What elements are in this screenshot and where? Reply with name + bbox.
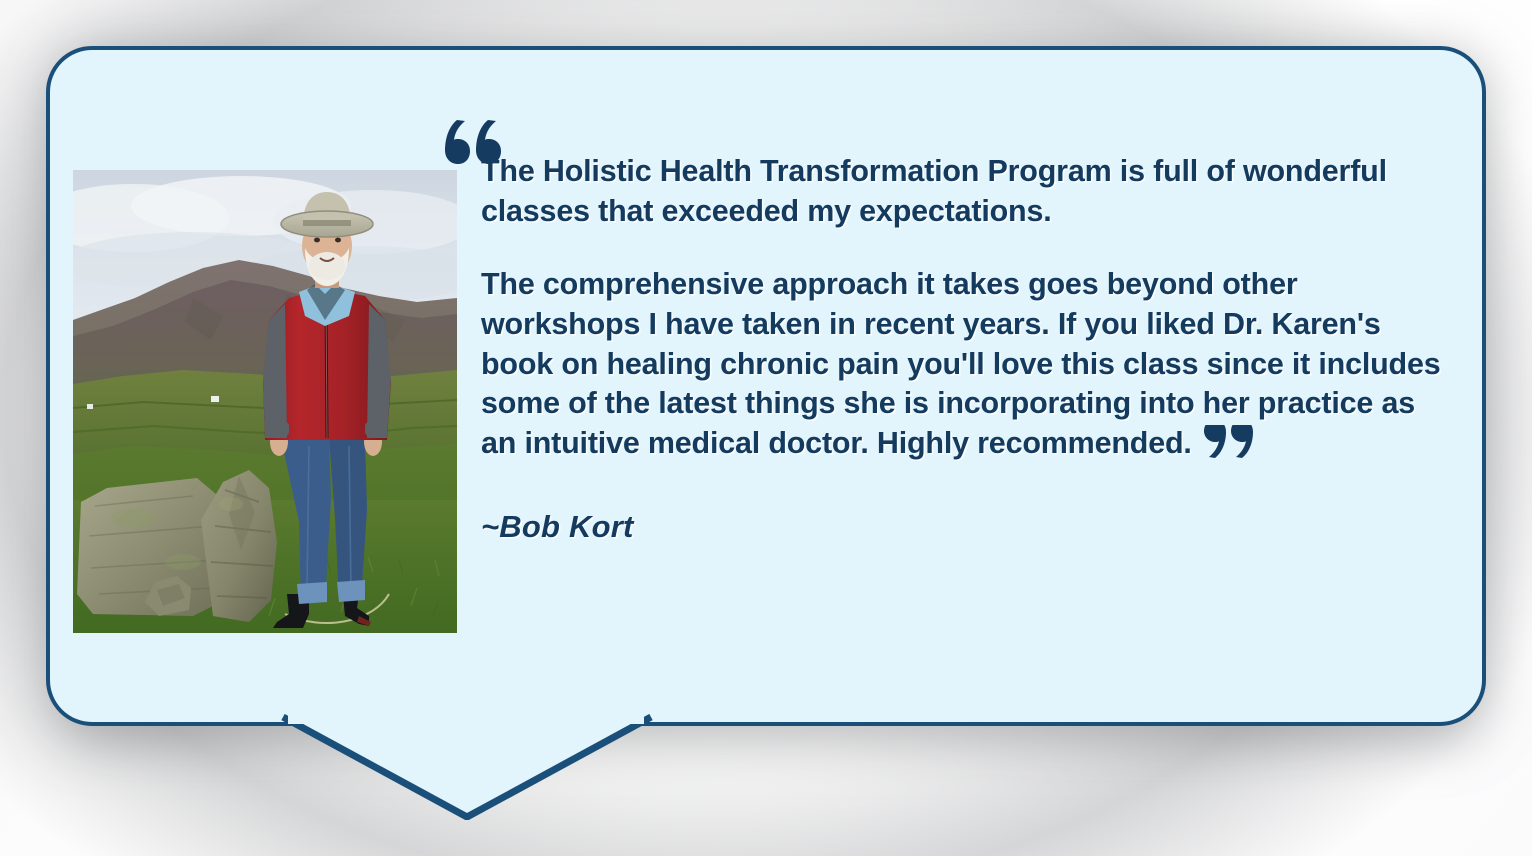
quote-column: The Holistic Health Transformation Progr… xyxy=(481,108,1441,545)
testimonial-graphic: The Holistic Health Transformation Progr… xyxy=(0,0,1532,856)
quote-paragraph-1: The Holistic Health Transformation Progr… xyxy=(481,152,1441,231)
close-quote-icon xyxy=(1204,425,1256,459)
speech-bubble-tail xyxy=(275,714,659,820)
testimonial-attribution: ~Bob Kort xyxy=(481,509,1441,545)
quote-paragraph-2: The comprehensive approach it takes goes… xyxy=(481,265,1441,463)
bubble-content: The Holistic Health Transformation Progr… xyxy=(46,46,1486,726)
photo-illustration xyxy=(73,170,457,633)
open-quote-icon xyxy=(445,116,505,164)
testimonial-photo xyxy=(73,170,457,633)
quote-paragraph-2-text: The comprehensive approach it takes goes… xyxy=(481,267,1441,460)
